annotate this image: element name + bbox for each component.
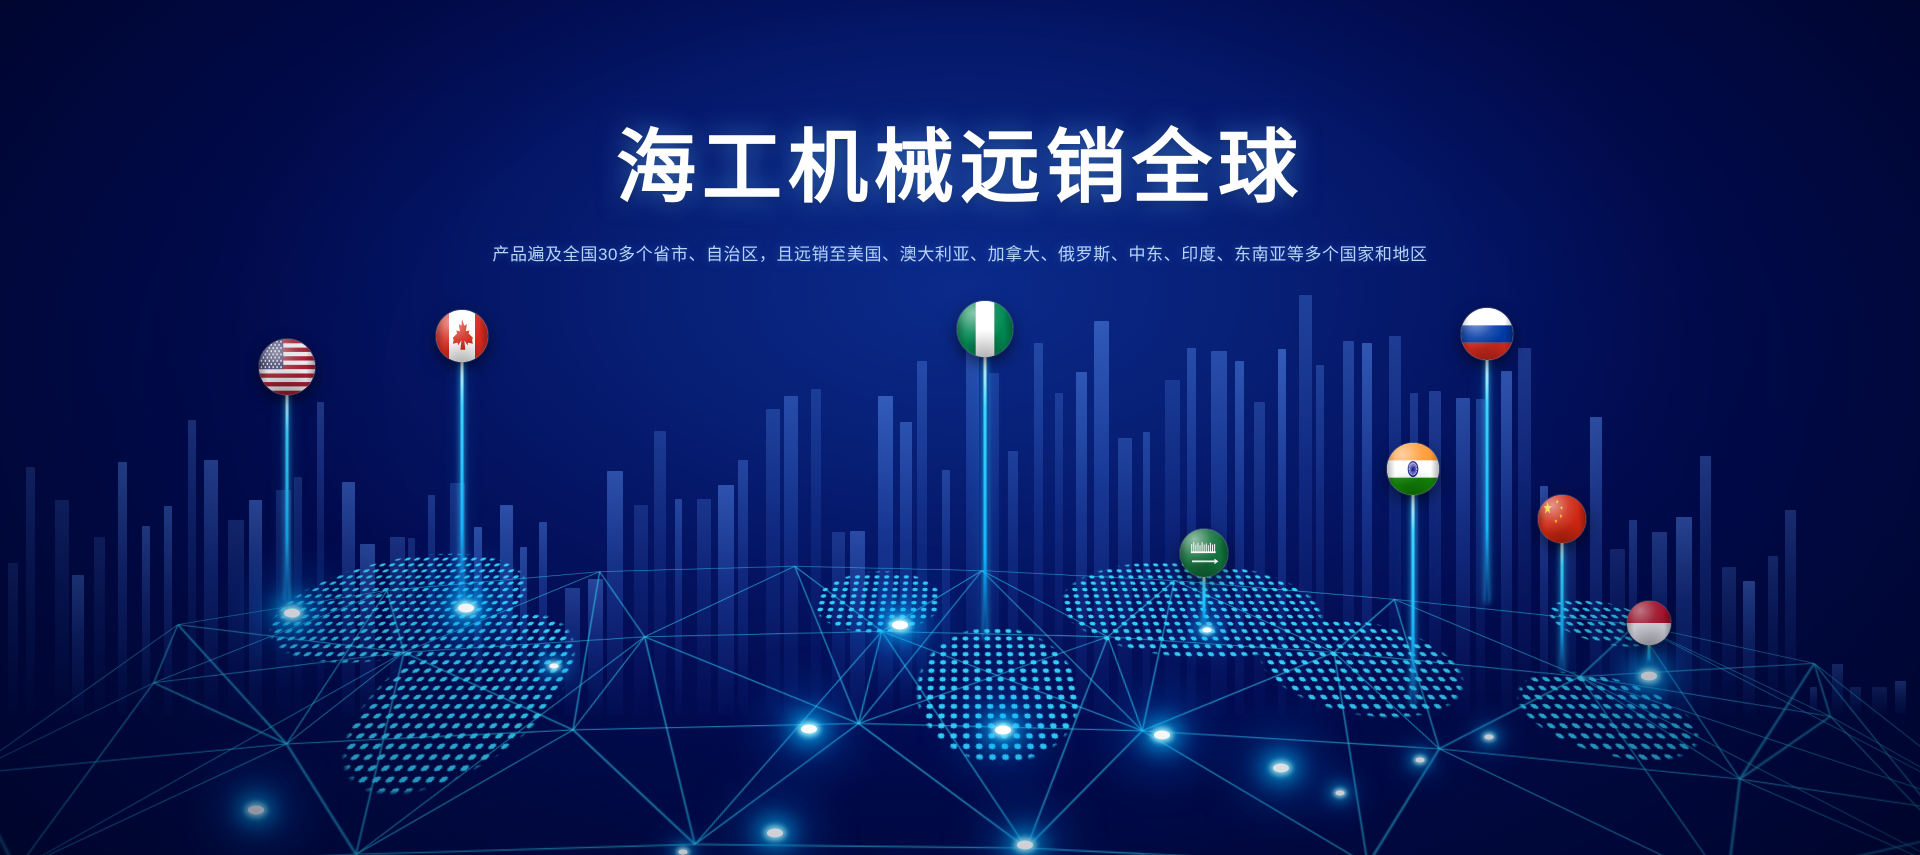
flag-nigeria-icon [957,301,1013,357]
network-line [141,625,429,653]
flag-pin-united-states[interactable] [259,395,315,601]
network-line [536,637,763,845]
pin-stem [461,362,464,600]
network-line [1580,676,1740,779]
map-node-glow [679,850,688,855]
flag-india-icon[interactable] [1387,443,1439,495]
map-node-glow [248,806,264,815]
network-line [1017,731,1173,848]
flag-canada-icon[interactable] [436,310,488,362]
flag-pin-russia[interactable] [1461,360,1513,603]
pin-stem [286,395,289,601]
map-node-glow [1641,672,1657,681]
map-node-glow [801,725,817,734]
network-line [774,566,890,631]
flag-pin-saudi-arabia[interactable] [1180,577,1228,625]
map-node-glow [1273,764,1289,773]
network-line [16,744,286,855]
network-line [222,652,505,854]
network-line [869,631,1142,730]
network-line [1578,625,1813,779]
map-node-glow [767,829,783,838]
flag-usa-icon[interactable] [259,339,315,395]
network-line [695,631,882,844]
network-line [600,566,795,571]
flag-pin-indonesia[interactable] [1627,645,1671,663]
flag-russia-icon [1461,308,1513,360]
network-line [101,625,226,683]
network-line [1567,663,1832,676]
page-subtitle: 产品遍及全国30多个省市、自治区，且远销至美国、澳大利亚、加拿大、俄罗斯、中东、… [0,240,1920,265]
network-line [1667,820,1920,855]
flag-pin-canada[interactable] [436,362,488,600]
flag-pin-india[interactable] [1387,495,1439,705]
network-line [1636,625,1830,717]
network-line [493,572,661,730]
headline-block: 海工机械远销全球 产品遍及全国30多个省市、自治区，且远销至美国、澳大利亚、加拿… [0,128,1920,265]
pin-stem [1486,360,1489,603]
network-line [1740,779,1920,855]
flag-india-icon [1387,443,1439,495]
network-line [16,652,404,855]
network-line [645,631,882,636]
network-line [1786,716,1920,855]
network-line [0,683,228,855]
pin-stem [1412,495,1415,705]
network-line [1009,637,1159,848]
network-line [287,730,573,744]
flag-pin-china[interactable] [1538,543,1586,670]
network-line [573,637,645,730]
flag-china-icon[interactable] [1538,495,1586,543]
network-line [645,566,795,637]
pin-stem [1561,543,1564,670]
map-node-glow [995,726,1011,735]
flag-canada-icon [436,310,488,362]
network-line [356,844,695,854]
pin-stem [1648,645,1651,663]
flag-china-icon [1538,495,1586,543]
network-line [695,723,859,844]
pin-stem [1203,577,1206,625]
network-line [404,637,645,653]
network-line [0,774,125,855]
network-line [1027,848,1368,855]
pin-stem [984,357,987,640]
banner-stage: 海工机械远销全球 产品遍及全国30多个省市、自治区，且远销至美国、澳大利亚、加拿… [0,0,1920,855]
network-line [1142,731,1367,855]
network-line [334,652,616,730]
flag-usa-icon [259,339,315,395]
map-node-glow [1416,758,1425,763]
flag-nigeria-icon[interactable] [957,301,1013,357]
network-line [1722,663,1920,855]
network-line [840,723,1026,848]
network-line [287,652,404,744]
network-line [746,566,882,723]
network-line [78,683,345,744]
network-line [229,590,433,744]
map-node-glow [550,664,559,669]
network-line [1439,749,1740,779]
network-line [1439,749,1727,855]
network-line [1122,652,1382,730]
network-line [1108,637,1142,731]
network-line [1619,663,1920,779]
network-line [387,572,600,591]
network-line [599,637,871,724]
page-title: 海工机械远销全球 [0,128,1920,208]
map-node-glow [892,621,908,630]
network-line [793,566,982,570]
network-line [404,572,600,653]
flag-indonesia-icon[interactable] [1627,601,1671,645]
map-node-glow [1203,628,1212,633]
network-line [1311,749,1518,855]
map-node-glow [1154,731,1170,740]
network-line [1740,779,1920,820]
network-line [1108,637,1334,653]
network-line [694,844,1027,848]
map-node-glow [458,604,474,613]
flag-saudi-icon [1180,529,1228,577]
network-line [556,572,679,637]
network-line [154,652,404,682]
network-line [1674,716,1910,779]
flag-indonesia-icon [1627,601,1671,645]
map-node-glow [284,609,300,618]
network-line [182,744,438,855]
flag-russia-icon[interactable] [1461,308,1513,360]
flag-pin-nigeria[interactable] [957,357,1013,640]
map-node-glow [1017,841,1033,850]
flag-saudi-icon[interactable] [1180,529,1228,577]
map-node-glow [1336,791,1345,796]
map-node-glow [1485,735,1494,740]
network-line [356,730,573,855]
network-line [1142,731,1439,749]
network-line [0,744,287,774]
